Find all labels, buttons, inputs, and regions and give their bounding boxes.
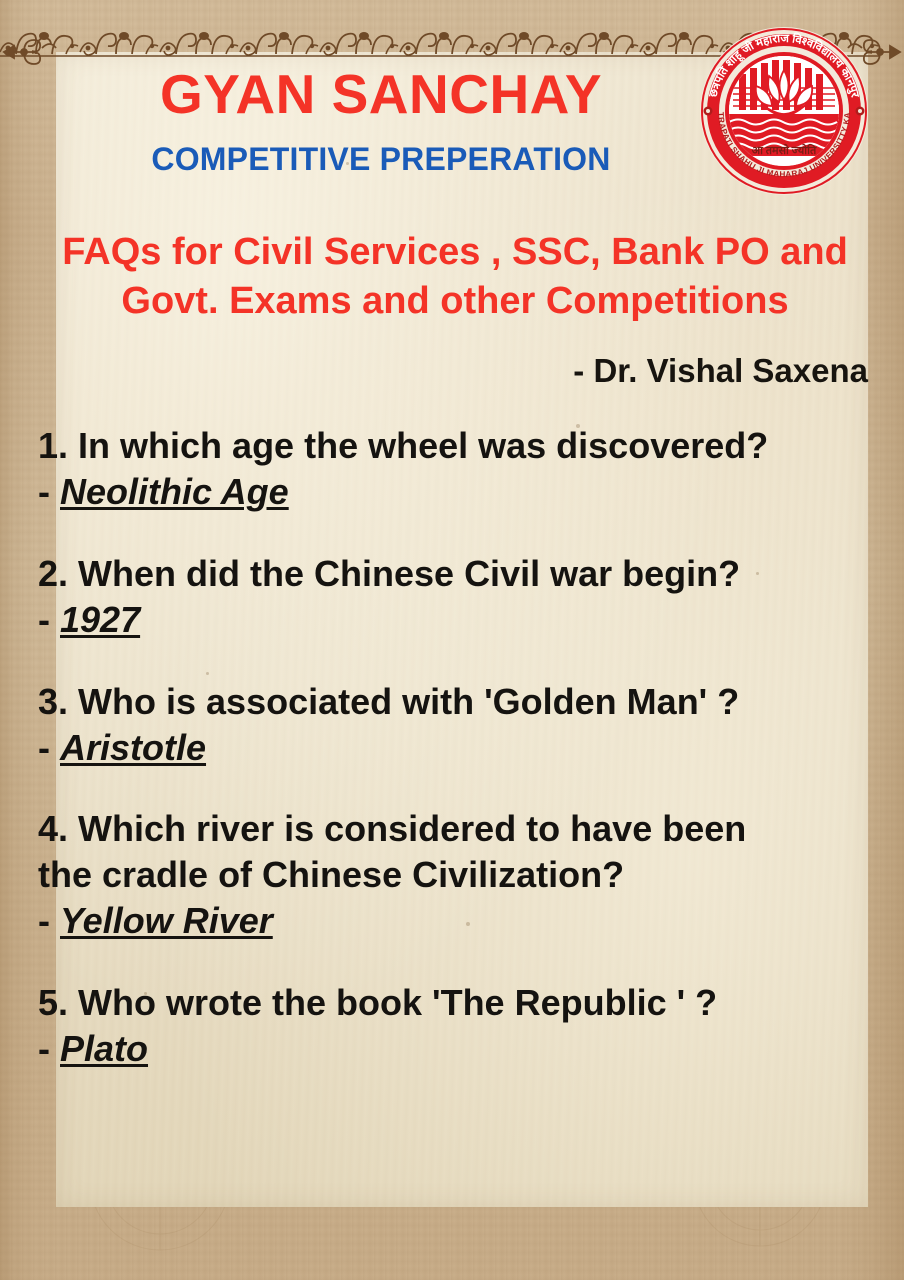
faq-number: 2. <box>38 553 68 594</box>
faq-question-line: Who wrote the book 'The Republic ' ? <box>78 982 717 1023</box>
faq-answer-prefix: - <box>38 471 60 512</box>
faq-question: 1. In which age the wheel was discovered… <box>38 424 878 468</box>
faq-item: 5. Who wrote the book 'The Republic ' ? … <box>38 981 878 1071</box>
faq-number: 5. <box>38 982 68 1023</box>
faq-answer: - Aristotle <box>38 726 878 770</box>
faq-answer-text: Yellow River <box>60 900 273 941</box>
faq-answer-text: Aristotle <box>60 727 206 768</box>
author-credit: - Dr. Vishal Saxena <box>573 352 868 390</box>
tagline: FAQs for Civil Services , SSC, Bank PO a… <box>20 228 890 325</box>
faq-number: 3. <box>38 681 68 722</box>
faq-question-line: Who is associated with 'Golden Man' ? <box>78 681 739 722</box>
faq-answer-prefix: - <box>38 599 60 640</box>
faq-answer: - Yellow River <box>38 899 878 943</box>
faq-answer-prefix: - <box>38 727 60 768</box>
faq-answer: - 1927 <box>38 598 878 642</box>
faq-question: 4. Which river is considered to have bee… <box>38 807 878 851</box>
faq-answer-text: 1927 <box>60 599 140 640</box>
faq-question-line: In which age the wheel was discovered? <box>78 425 768 466</box>
faq-question: 5. Who wrote the book 'The Republic ' ? <box>38 981 878 1025</box>
faq-item: 4. Which river is considered to have bee… <box>38 807 878 943</box>
logo-motto: आ तमसो ज्योति <box>752 143 817 157</box>
tagline-line-2: Govt. Exams and other Competitions <box>20 277 890 326</box>
faq-answer: - Neolithic Age <box>38 470 878 514</box>
faq-item: 2. When did the Chinese Civil war begin?… <box>38 552 878 642</box>
faq-question: 3. Who is associated with 'Golden Man' ? <box>38 680 878 724</box>
faq-question-line: When did the Chinese Civil war begin? <box>78 553 740 594</box>
page-subtitle: COMPETITIVE PREPERATION <box>56 142 706 177</box>
faq-item: 3. Who is associated with 'Golden Man' ?… <box>38 680 878 770</box>
faq-list: 1. In which age the wheel was discovered… <box>38 424 878 1109</box>
faq-answer-text: Neolithic Age <box>60 471 289 512</box>
faq-answer-prefix: - <box>38 1028 60 1069</box>
university-logo-icon: आ तमसो ज्योति छत्रपति शाहू जी महाराज विश… <box>699 26 869 196</box>
faq-number: 1. <box>38 425 68 466</box>
poster-root: आ तमसो ज्योति छत्रपति शाहू जी महाराज विश… <box>0 0 904 1280</box>
tagline-line-1: FAQs for Civil Services , SSC, Bank PO a… <box>20 228 890 277</box>
faq-question-line: Which river is considered to have been <box>78 808 746 849</box>
faq-item: 1. In which age the wheel was discovered… <box>38 424 878 514</box>
page-title: GYAN SANCHAY <box>56 66 706 124</box>
faq-answer: - Plato <box>38 1027 878 1071</box>
faq-answer-text: Plato <box>60 1028 148 1069</box>
faq-answer-prefix: - <box>38 900 60 941</box>
corner-ornament-left <box>2 36 60 76</box>
faq-question-continued: the cradle of Chinese Civilization? <box>38 853 878 897</box>
faq-question: 2. When did the Chinese Civil war begin? <box>38 552 878 596</box>
faq-number: 4. <box>38 808 68 849</box>
